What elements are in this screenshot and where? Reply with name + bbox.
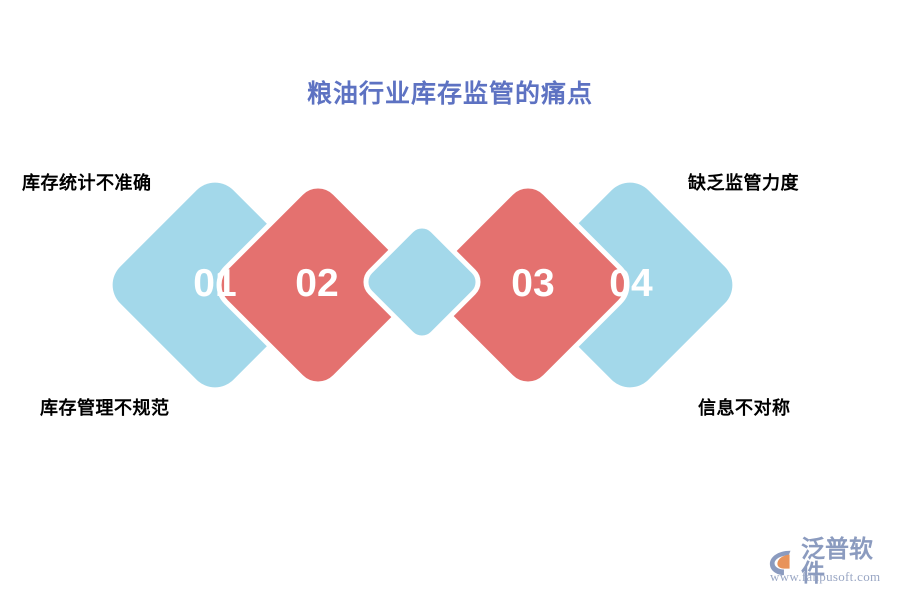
brand-logo: 泛普软件 www.fanpusoft.com <box>768 538 892 584</box>
caption-top-right: 缺乏监管力度 <box>688 169 799 195</box>
diamond-number-04: 04 <box>586 264 676 303</box>
caption-bottom-right: 信息不对称 <box>698 394 791 420</box>
logo-url: www.fanpusoft.com <box>770 569 880 585</box>
caption-top-left: 库存统计不准确 <box>22 169 152 195</box>
caption-bottom-left: 库存管理不规范 <box>40 394 170 420</box>
infographic-canvas: 粮油行业库存监管的痛点 01 02 <box>0 0 900 600</box>
diamond-number-03: 03 <box>488 264 578 303</box>
diamond-diagram <box>0 0 900 600</box>
diamond-number-01: 01 <box>170 264 260 303</box>
diamond-number-02: 02 <box>272 264 362 303</box>
diamond-shapes-svg <box>0 0 900 600</box>
